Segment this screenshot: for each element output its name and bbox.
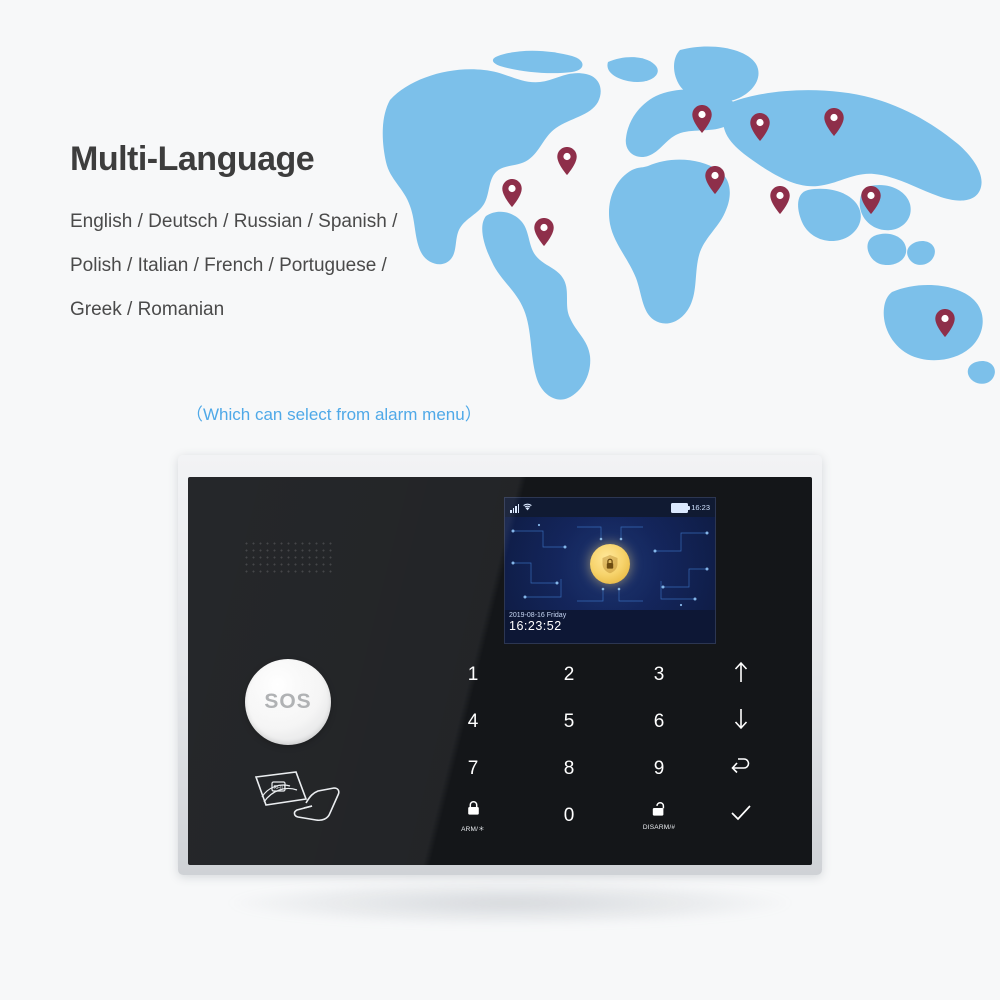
- key-2[interactable]: 2: [534, 652, 604, 698]
- open-padlock-icon: [651, 801, 667, 823]
- device-screen: 16:23: [504, 497, 716, 644]
- key-disarm[interactable]: DISARM/#: [624, 793, 694, 839]
- sos-button[interactable]: SOS: [245, 659, 331, 745]
- alarm-panel-device: 16:23: [178, 455, 822, 875]
- screen-main-area: [505, 517, 715, 610]
- key-1[interactable]: 1: [438, 652, 508, 698]
- key-4[interactable]: 4: [438, 699, 508, 745]
- screen-footer: 2019-08-16 Friday 16:23:52: [505, 610, 715, 643]
- pin-north-america-1: [502, 179, 522, 207]
- rfid-card-icon: RFID: [250, 769, 350, 823]
- pin-europe-1: [692, 105, 712, 133]
- pin-europe-2: [750, 113, 770, 141]
- screen-status-bar: 16:23: [505, 498, 715, 517]
- key-arm[interactable]: ARM/＊: [438, 793, 508, 839]
- pin-russia-1: [824, 108, 844, 136]
- key-6[interactable]: 6: [624, 699, 694, 745]
- speaker-grill: [243, 540, 333, 574]
- key-5[interactable]: 5: [534, 699, 604, 745]
- pin-asia-2: [861, 186, 881, 214]
- device-shadow: [230, 880, 790, 926]
- arrow-down-icon: [733, 708, 749, 736]
- pin-north-america-3: [534, 218, 554, 246]
- key-confirm[interactable]: [706, 793, 776, 839]
- key-arm-label: ARM/＊: [461, 823, 485, 833]
- screen-date: 2019-08-16 Friday: [509, 612, 711, 619]
- device-front-panel: 16:23: [188, 477, 812, 865]
- page-title: Multi-Language: [70, 140, 314, 179]
- key-back[interactable]: [706, 746, 776, 792]
- language-list-line-1: English / Deutsch / Russian / Spanish /: [70, 211, 397, 233]
- arrow-up-icon: [733, 661, 749, 689]
- key-8[interactable]: 8: [534, 746, 604, 792]
- wifi-icon: [522, 502, 533, 513]
- pin-australia-1: [935, 309, 955, 337]
- pin-asia-1: [770, 186, 790, 214]
- language-list-line-2: Polish / Italian / French / Portuguese /: [70, 255, 387, 277]
- check-icon: [730, 804, 752, 828]
- pin-north-america-2: [557, 147, 577, 175]
- note-text: （Which can select from alarm menu）: [186, 400, 482, 425]
- lock-shield-icon: [590, 544, 630, 584]
- back-arrow-icon: [730, 757, 752, 781]
- key-9[interactable]: 9: [624, 746, 694, 792]
- screen-time: 16:23:52: [509, 619, 711, 633]
- pin-europe-3: [705, 166, 725, 194]
- closed-padlock-icon: [466, 800, 481, 822]
- key-disarm-label: DISARM/#: [643, 824, 675, 831]
- key-up[interactable]: [706, 652, 776, 698]
- battery-icon: [671, 503, 688, 513]
- world-map: [380, 40, 1000, 440]
- language-list-line-3: Greek / Romanian: [70, 299, 224, 321]
- cellular-signal-icon: [510, 504, 519, 513]
- key-3[interactable]: 3: [624, 652, 694, 698]
- key-7[interactable]: 7: [438, 746, 508, 792]
- key-down[interactable]: [706, 699, 776, 745]
- key-0[interactable]: 0: [534, 793, 604, 839]
- screen-status-time: 16:23: [691, 503, 710, 512]
- svg-text:RFID: RFID: [274, 785, 286, 791]
- keypad[interactable]: 1 2 3 4 5 6 7 8 9 0 ARM/＊ DISARM/#: [438, 652, 778, 842]
